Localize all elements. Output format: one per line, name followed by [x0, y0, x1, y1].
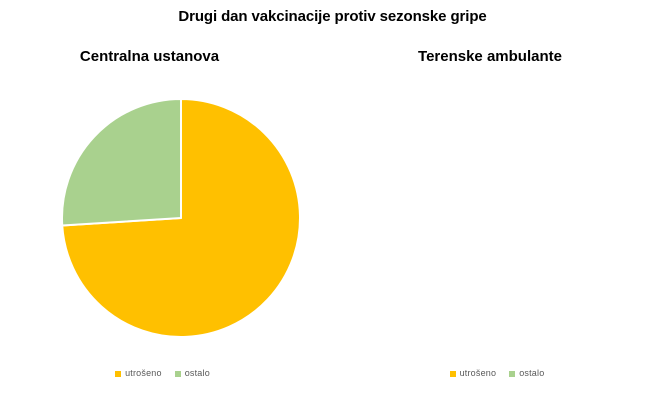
- legend-left: utrošeno ostalo: [0, 369, 329, 378]
- pie-chart-left-svg: [61, 98, 301, 338]
- pie-chart-left: [61, 98, 301, 338]
- legend-label-ostalo: ostalo: [185, 369, 210, 378]
- chart-subtitle-left: Centralna ustanova: [0, 48, 316, 65]
- legend-item-ostalo-left[interactable]: ostalo: [175, 369, 210, 378]
- legend-label-ostalo: ostalo: [519, 369, 544, 378]
- chart-panel-centralna-ustanova: Centralna ustanova utrošeno ostalo: [0, 0, 333, 403]
- legend-label-utroseno: utrošeno: [125, 369, 162, 378]
- legend-right: utrošeno ostalo: [331, 369, 663, 378]
- chart-subtitle-right: Terenske ambulante: [324, 48, 656, 65]
- legend-square-icon: [509, 371, 515, 377]
- legend-item-utroseno-right[interactable]: utrošeno: [450, 369, 497, 378]
- legend-square-icon: [450, 371, 456, 377]
- legend-square-icon: [115, 371, 121, 377]
- pie-slices-left: [62, 99, 300, 337]
- pie-slice-ostalo-left[interactable]: [62, 99, 181, 225]
- legend-item-utroseno-left[interactable]: utrošeno: [115, 369, 162, 378]
- legend-label-utroseno: utrošeno: [460, 369, 497, 378]
- legend-item-ostalo-right[interactable]: ostalo: [509, 369, 544, 378]
- chart-canvas: Drugi dan vakcinacije protiv sezonske gr…: [0, 0, 665, 403]
- chart-panel-terenske-ambulante: Terenske ambulante utrošeno ostalo: [333, 0, 665, 403]
- legend-square-icon: [175, 371, 181, 377]
